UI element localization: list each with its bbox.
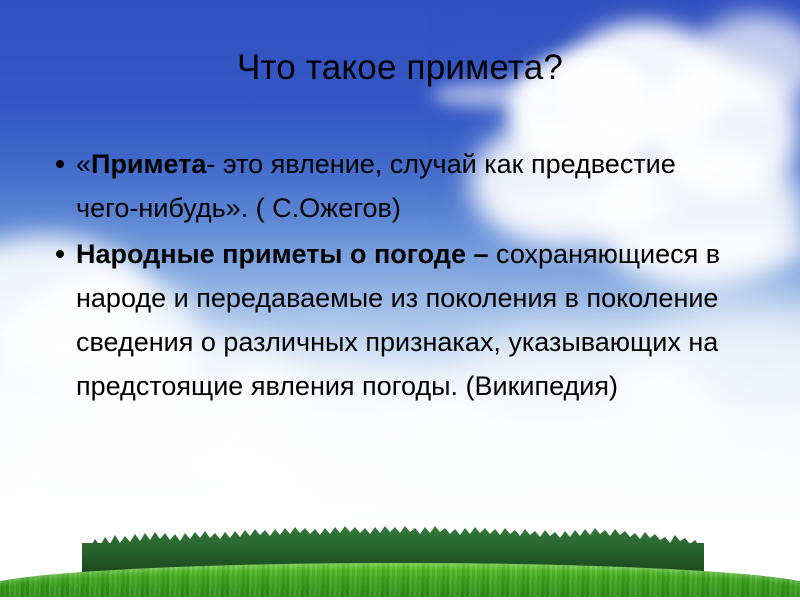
slide-body: «Примета- это явление, случай как предве… — [48, 142, 738, 408]
bullet-text-segment: « — [76, 149, 91, 179]
bullet-text-segment-bold: Народные приметы о погоде — [76, 239, 466, 269]
bullet-text-segment-bold: Примета — [91, 149, 206, 179]
bullet-dot-icon — [56, 250, 64, 258]
bullet-item-definition-wikipedia: Народные приметы о погоде – сохраняющиес… — [48, 232, 738, 408]
bullet-dot-icon — [56, 160, 64, 168]
slide-title: Что такое примета? — [0, 46, 800, 90]
bullet-text-segment-bold: – — [473, 239, 488, 269]
bullet-item-definition-ozhegov: «Примета- это явление, случай как предве… — [48, 142, 738, 230]
presentation-slide: Что такое примета? «Примета- это явление… — [0, 0, 800, 600]
